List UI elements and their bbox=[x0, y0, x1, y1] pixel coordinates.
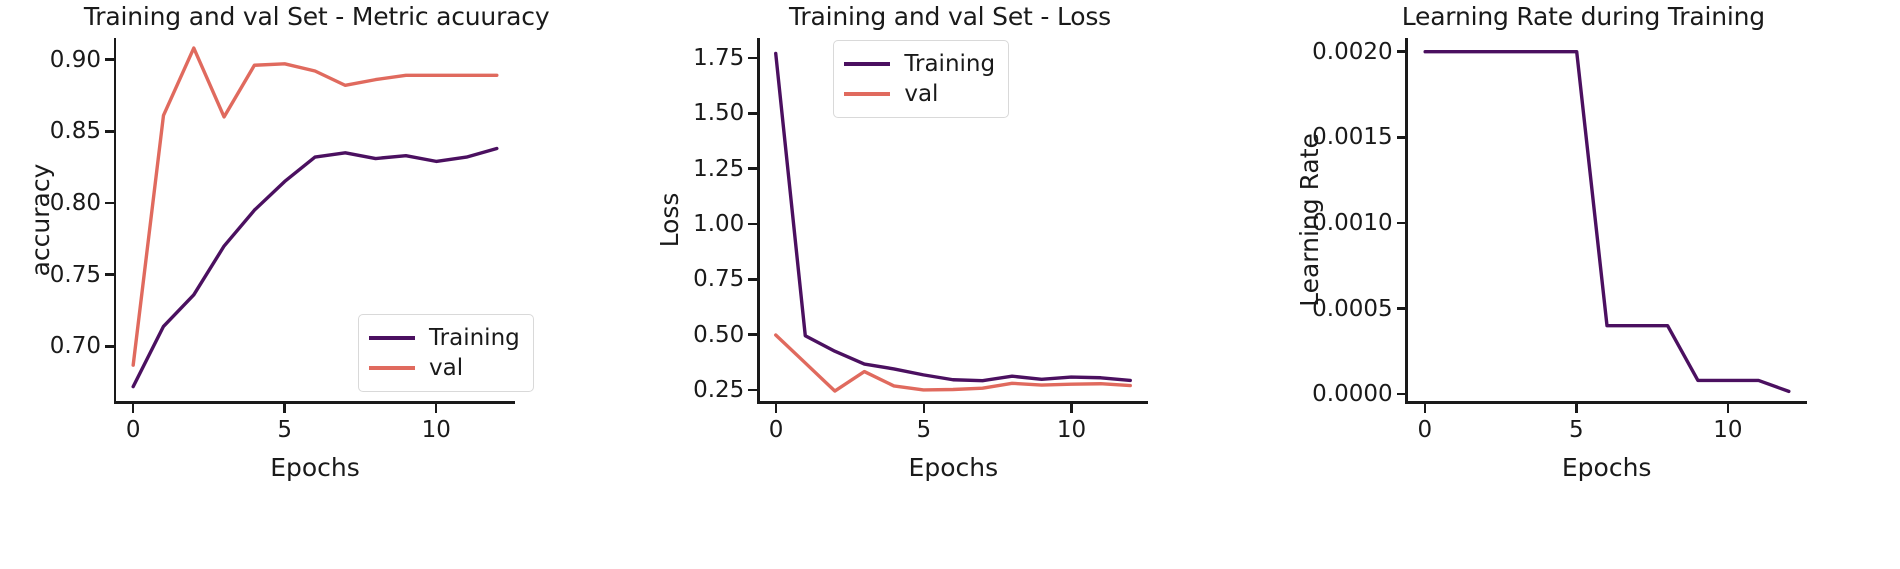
series-line-learning-rate bbox=[1425, 52, 1789, 392]
panel-accuracy: Training and val Set - Metric acuuracy T… bbox=[0, 0, 633, 569]
legend-accuracy[interactable]: Training val bbox=[358, 314, 534, 392]
y-tick-mark bbox=[1397, 222, 1406, 225]
y-tick-label: 0.80 bbox=[50, 190, 101, 216]
y-tick-label: 0.0015 bbox=[1312, 124, 1392, 150]
x-tick-label: 5 bbox=[277, 417, 292, 443]
y-tick-mark bbox=[748, 223, 757, 226]
x-tick-label: 10 bbox=[422, 417, 451, 443]
y-axis-label: Learning Rate bbox=[1295, 133, 1324, 307]
legend-item-val[interactable]: val bbox=[844, 79, 995, 109]
x-tick-label: 0 bbox=[126, 417, 141, 443]
x-axis-label: Epochs bbox=[1562, 453, 1652, 482]
x-tick-mark bbox=[775, 404, 778, 413]
y-tick-label: 1.50 bbox=[693, 100, 744, 126]
y-axis-spine bbox=[1405, 38, 1408, 401]
legend-item-training[interactable]: Training bbox=[369, 323, 520, 353]
y-tick-mark bbox=[1397, 136, 1406, 139]
y-tick-mark bbox=[748, 167, 757, 170]
legend-item-val[interactable]: val bbox=[369, 353, 520, 383]
x-axis-spine bbox=[757, 401, 1148, 404]
y-tick-label: 0.0005 bbox=[1312, 296, 1392, 322]
x-tick-mark bbox=[283, 404, 286, 413]
x-tick-mark bbox=[1070, 404, 1073, 413]
x-tick-mark bbox=[132, 404, 135, 413]
y-tick-label: 0.0020 bbox=[1312, 39, 1392, 65]
y-tick-label: 0.75 bbox=[50, 262, 101, 288]
x-tick-mark bbox=[435, 404, 438, 413]
x-tick-label: 5 bbox=[1569, 417, 1584, 443]
x-tick-label: 0 bbox=[769, 417, 784, 443]
y-tick-label: 1.00 bbox=[693, 211, 744, 237]
x-tick-mark bbox=[1727, 404, 1730, 413]
y-tick-mark bbox=[105, 345, 114, 348]
y-axis-label: accuracy bbox=[26, 163, 55, 276]
panel-learning-rate: Learning Rate during Training 0.00000.00… bbox=[1267, 0, 1900, 569]
x-tick-label: 10 bbox=[1057, 417, 1086, 443]
y-tick-label: 1.75 bbox=[693, 45, 744, 71]
x-tick-label: 10 bbox=[1713, 417, 1742, 443]
legend-label-val: val bbox=[429, 357, 463, 380]
y-tick-mark bbox=[748, 112, 757, 115]
y-tick-label: 0.0010 bbox=[1312, 210, 1392, 236]
legend-loss[interactable]: Training val bbox=[833, 40, 1009, 118]
y-tick-label: 0.50 bbox=[693, 322, 744, 348]
x-tick-mark bbox=[1424, 404, 1427, 413]
legend-label-training: Training bbox=[904, 53, 995, 76]
x-axis-label: Epochs bbox=[909, 453, 999, 482]
series-line-val bbox=[776, 335, 1131, 391]
y-tick-mark bbox=[748, 57, 757, 60]
x-tick-label: 0 bbox=[1418, 417, 1433, 443]
y-axis-label: Loss bbox=[655, 192, 684, 247]
x-axis-label: Epochs bbox=[270, 453, 360, 482]
y-tick-mark bbox=[748, 389, 757, 392]
y-tick-label: 0.70 bbox=[50, 333, 101, 359]
x-axis-spine bbox=[1405, 401, 1806, 404]
legend-item-training[interactable]: Training bbox=[844, 49, 995, 79]
x-axis-spine bbox=[114, 401, 515, 404]
legend-label-training: Training bbox=[429, 327, 520, 350]
y-tick-mark bbox=[748, 333, 757, 336]
y-tick-label: 0.75 bbox=[693, 266, 744, 292]
y-tick-mark bbox=[1397, 393, 1406, 396]
panel-loss: Training and val Set - Loss Training val… bbox=[633, 0, 1266, 569]
y-tick-mark bbox=[1397, 307, 1406, 310]
y-axis-spine bbox=[114, 38, 117, 401]
y-tick-mark bbox=[748, 278, 757, 281]
legend-swatch-val-icon bbox=[369, 366, 415, 370]
legend-swatch-training-icon bbox=[844, 62, 890, 66]
x-tick-mark bbox=[1575, 404, 1578, 413]
legend-swatch-training-icon bbox=[369, 336, 415, 340]
y-tick-mark bbox=[105, 58, 114, 61]
x-tick-label: 5 bbox=[916, 417, 931, 443]
y-tick-label: 0.85 bbox=[50, 118, 101, 144]
y-tick-mark bbox=[105, 202, 114, 205]
y-tick-label: 0.25 bbox=[693, 377, 744, 403]
y-axis-spine bbox=[757, 38, 760, 401]
x-tick-mark bbox=[923, 404, 926, 413]
y-tick-label: 0.0000 bbox=[1312, 381, 1392, 407]
y-tick-mark bbox=[105, 273, 114, 276]
figure-three-panel-training-charts: Training and val Set - Metric acuuracy T… bbox=[0, 0, 1900, 569]
legend-label-val: val bbox=[904, 83, 938, 106]
learning-rate-curves bbox=[1267, 0, 1900, 569]
y-tick-mark bbox=[105, 130, 114, 133]
legend-swatch-val-icon bbox=[844, 92, 890, 96]
y-tick-label: 0.90 bbox=[50, 47, 101, 73]
y-tick-mark bbox=[1397, 50, 1406, 53]
y-tick-label: 1.25 bbox=[693, 156, 744, 182]
